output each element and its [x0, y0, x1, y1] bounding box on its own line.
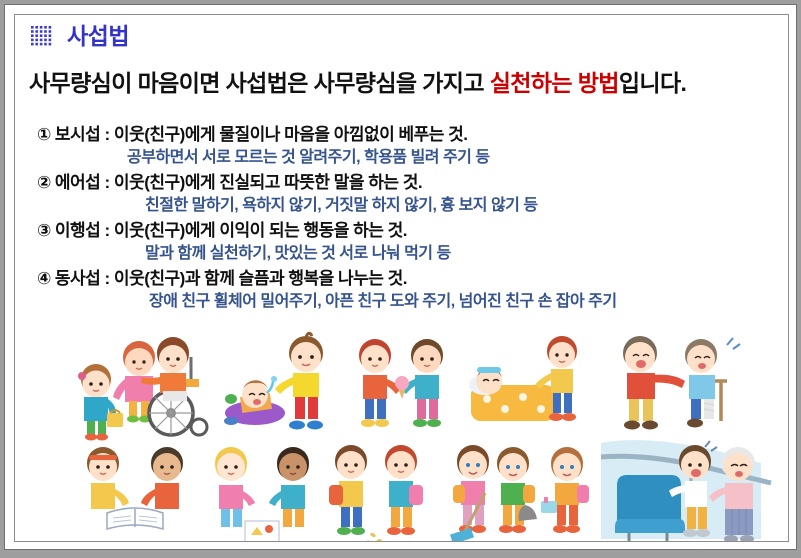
- headline-highlight: 실천하는 방법: [490, 70, 619, 96]
- list-item-sub: 장애 친구 휠체어 밀어주기, 아픈 친구 도와 주기, 넘어진 친구 손 잡아…: [37, 290, 782, 314]
- dotted-grid-icon: [31, 26, 57, 48]
- children-drawing-together-illustration: [203, 439, 323, 542]
- list-item-number: ②: [37, 171, 51, 194]
- list-item-sub: 친절한 말하기, 욕하지 않기, 거짓말 하지 않기, 흉 보지 않기 등: [37, 194, 782, 218]
- list-item: ①보시섭 : 이웃(친구)에게 물질이나 마음을 아낌없이 베푸는 것. 공부하…: [37, 123, 782, 170]
- list-item-number: ③: [37, 219, 51, 242]
- list-item-main: ①보시섭 : 이웃(친구)에게 물질이나 마음을 아낌없이 베푸는 것.: [37, 123, 782, 146]
- list-item-main: ④동사섭 : 이웃(친구)과 함께 슬픔과 행복을 나누는 것.: [37, 267, 782, 290]
- list-item-main: ③이행섭 : 이웃(친구)에게 이익이 되는 행동을 하는 것.: [37, 219, 782, 242]
- children-with-backpacks-illustration: [323, 439, 441, 542]
- headline-part-3: 입니다.: [619, 70, 686, 96]
- list-item: ④동사섭 : 이웃(친구)과 함께 슬픔과 행복을 나누는 것. 장애 친구 휠…: [37, 267, 782, 314]
- list-item-main: ②에어섭 : 이웃(친구)에게 진실되고 따뜻한 말을 하는 것.: [37, 171, 782, 194]
- headline-part-1: 사무량심이 마음이면 사섭법은 사무량심을 가지고: [29, 70, 490, 96]
- child-caring-sick-friend-in-bed-illustration: [463, 329, 591, 443]
- slide-border: 사섭법 사무량심이 마음이면 사섭법은 사무량심을 가지고 실천하는 방법입니다…: [4, 4, 797, 550]
- page-title: 사섭법: [67, 25, 129, 48]
- list-item-text: 에어섭 : 이웃(친구)에게 진실되고 따뜻한 말을 하는 것.: [55, 173, 422, 192]
- list-item-sub: 공부하면서 서로 모르는 것 알려주기, 학용품 빌려 주기 등: [37, 146, 782, 170]
- list-item: ②에어섭 : 이웃(친구)에게 진실되고 따뜻한 말을 하는 것. 친절한 말하…: [37, 171, 782, 218]
- list-item-text: 보시섭 : 이웃(친구)에게 물질이나 마음을 아낌없이 베푸는 것.: [55, 125, 468, 144]
- slide-outer-frame: 사섭법 사무량심이 마음이면 사섭법은 사무량심을 가지고 실천하는 방법입니다…: [0, 0, 801, 558]
- helping-injured-person-illustration: [601, 329, 751, 443]
- list-item-sub: 말과 함께 실천하기, 맛있는 것 서로 나눠 먹기 등: [37, 242, 782, 266]
- children-cleaning-litter-illustration: [441, 439, 601, 542]
- headline: 사무량심이 마음이면 사섭법은 사무량심을 가지고 실천하는 방법입니다.: [29, 64, 686, 98]
- slide-canvas: 사섭법 사무량심이 마음이면 사섭법은 사무량심을 가지고 실천하는 방법입니다…: [14, 14, 789, 542]
- boy-offering-bus-seat-to-grandmother-illustration: [601, 439, 771, 542]
- children-reading-book-together-illustration: [73, 439, 203, 542]
- list-item-number: ①: [37, 123, 51, 146]
- list-item: ③이행섭 : 이웃(친구)에게 이익이 되는 행동을 하는 것. 말과 함께 실…: [37, 219, 782, 266]
- list-item-text: 이행섭 : 이웃(친구)에게 이익이 되는 행동을 하는 것.: [55, 221, 407, 240]
- illustration-row-1: [15, 329, 789, 443]
- illustration-row-2: [15, 439, 789, 542]
- sa-seop-beop-list: ①보시섭 : 이웃(친구)에게 물질이나 마음을 아낌없이 베푸는 것. 공부하…: [37, 123, 782, 315]
- list-item-text: 동사섭 : 이웃(친구)과 함께 슬픔과 행복을 나누는 것.: [55, 269, 407, 288]
- children-with-wheelchair-illustration: [63, 329, 213, 443]
- illustration-area: [15, 315, 789, 542]
- boy-comforting-crying-child-illustration: [211, 329, 341, 443]
- list-item-number: ④: [37, 267, 51, 290]
- children-sharing-ice-cream-illustration: [341, 329, 461, 443]
- slide-title-row: 사섭법: [31, 25, 129, 48]
